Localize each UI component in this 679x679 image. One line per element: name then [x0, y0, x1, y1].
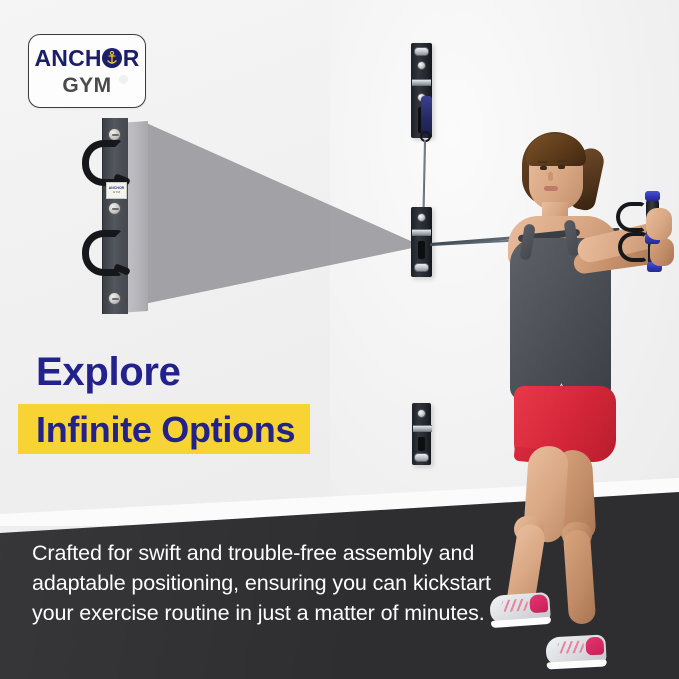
model-lips [544, 186, 558, 191]
headline-line-1: Explore [36, 352, 181, 392]
logo-gym-text: GYM [62, 75, 111, 96]
rail-bottom-band [413, 425, 432, 432]
rail-top-cap [414, 47, 429, 56]
caption-block: Crafted for swift and trouble-free assem… [32, 538, 502, 628]
anchor-icon [102, 48, 122, 68]
rail-mid-band [412, 229, 431, 236]
logo-highlight-dot [119, 75, 128, 84]
caption-line-1: Crafted for swift and trouble-free assem… [32, 538, 502, 568]
model-eye-left [540, 166, 547, 170]
blue-carabiner-strap [421, 96, 432, 136]
rail-mid-cap [414, 263, 429, 272]
anchor-gym-logo: ANCH R GYM [28, 34, 146, 108]
shoe-right-accent [585, 637, 604, 656]
bracket-bolt-middle [108, 202, 121, 215]
bracket-brand-label: ANCHOR GYM [106, 182, 127, 199]
model-hair-front [526, 134, 586, 166]
model-nose [548, 172, 553, 181]
model-hand-front [646, 208, 672, 240]
rail-bottom-cap [414, 453, 429, 462]
rail-bottom-knob [417, 409, 426, 418]
product-ad-image: ANCHOR GYM [0, 0, 679, 679]
logo-anchor-text-r: R [123, 47, 140, 70]
model-shin-back [563, 529, 596, 625]
logo-anchor-text-a: ANCH [34, 47, 101, 70]
rail-top-band [412, 79, 431, 86]
anchor-rail-bottom [412, 403, 431, 465]
caption-line-2: adaptable positioning, ensuring you can … [32, 568, 502, 598]
rail-mid-slot [418, 241, 425, 259]
handle-front-loop [616, 202, 646, 232]
rail-top-knob [417, 61, 426, 70]
anchor-rail-middle [411, 207, 432, 277]
headline-line-2: Infinite Options [36, 412, 295, 448]
shoe-left-laces [501, 598, 528, 612]
logo-anchor-wordmark: ANCH R [34, 47, 139, 70]
bracket-bolt-bottom [108, 292, 121, 305]
model-eye-right [558, 165, 565, 169]
wall-mount-bracket: ANCHOR GYM [84, 118, 148, 314]
rail-mid-knob [417, 213, 426, 222]
shoe-right-laces [558, 641, 585, 654]
shoe-left-accent [529, 594, 548, 613]
bracket-label-line2: GYM [113, 191, 120, 194]
rail-bottom-slot [418, 437, 425, 451]
handle-back-loop [618, 232, 648, 262]
model-shoe-right [545, 634, 606, 665]
handle-front-end-top [645, 191, 660, 201]
caption-line-3: your exercise routine in just a matter o… [32, 598, 502, 628]
